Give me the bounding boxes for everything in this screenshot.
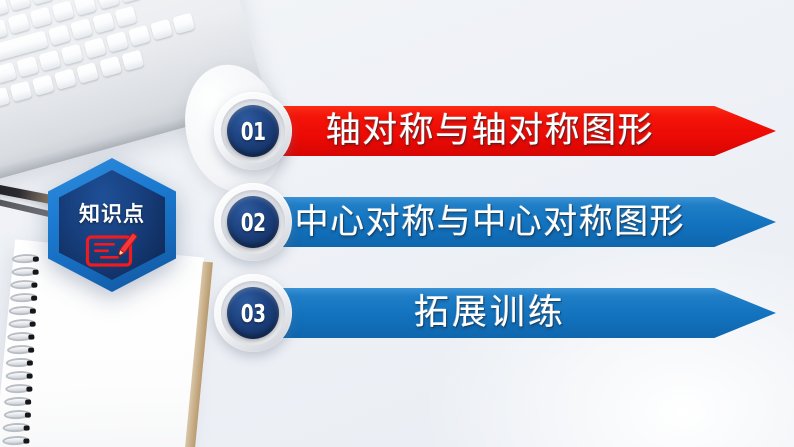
knowledge-point-badge: 知识点 (48, 158, 176, 292)
notepad-pencil-icon (84, 230, 140, 270)
section-number-badge-1[interactable]: 01 (214, 92, 292, 170)
knowledge-point-label: 知识点 (48, 198, 176, 228)
section-title-2: 中心对称与中心对称图形 (295, 205, 686, 239)
slide-canvas: 知识点 轴对称与轴对称图形 01 中心对称与中心对称图形 (0, 0, 794, 447)
section-number-core-1: 01 (227, 105, 279, 157)
section-number-1: 01 (241, 117, 266, 146)
section-number-core-3: 03 (227, 287, 279, 339)
section-title-1: 轴对称与轴对称图形 (326, 114, 655, 149)
section-banner-3[interactable]: 拓展训练 (258, 288, 776, 338)
section-title-3: 拓展训练 (414, 296, 566, 331)
section-row-1[interactable]: 轴对称与轴对称图形 01 (214, 92, 776, 170)
notebook-spiral-binding (0, 249, 47, 447)
section-row-2[interactable]: 中心对称与中心对称图形 02 (214, 183, 776, 261)
notebook-page-edge (182, 262, 212, 447)
section-number-3: 03 (241, 299, 266, 328)
section-number-core-2: 02 (227, 196, 279, 248)
section-number-badge-2[interactable]: 02 (214, 183, 292, 261)
section-row-3[interactable]: 拓展训练 03 (214, 274, 776, 352)
section-number-2: 02 (241, 208, 266, 237)
section-banner-1[interactable]: 轴对称与轴对称图形 (258, 106, 776, 156)
section-banner-2[interactable]: 中心对称与中心对称图形 (258, 197, 776, 247)
section-number-badge-3[interactable]: 03 (214, 274, 292, 352)
